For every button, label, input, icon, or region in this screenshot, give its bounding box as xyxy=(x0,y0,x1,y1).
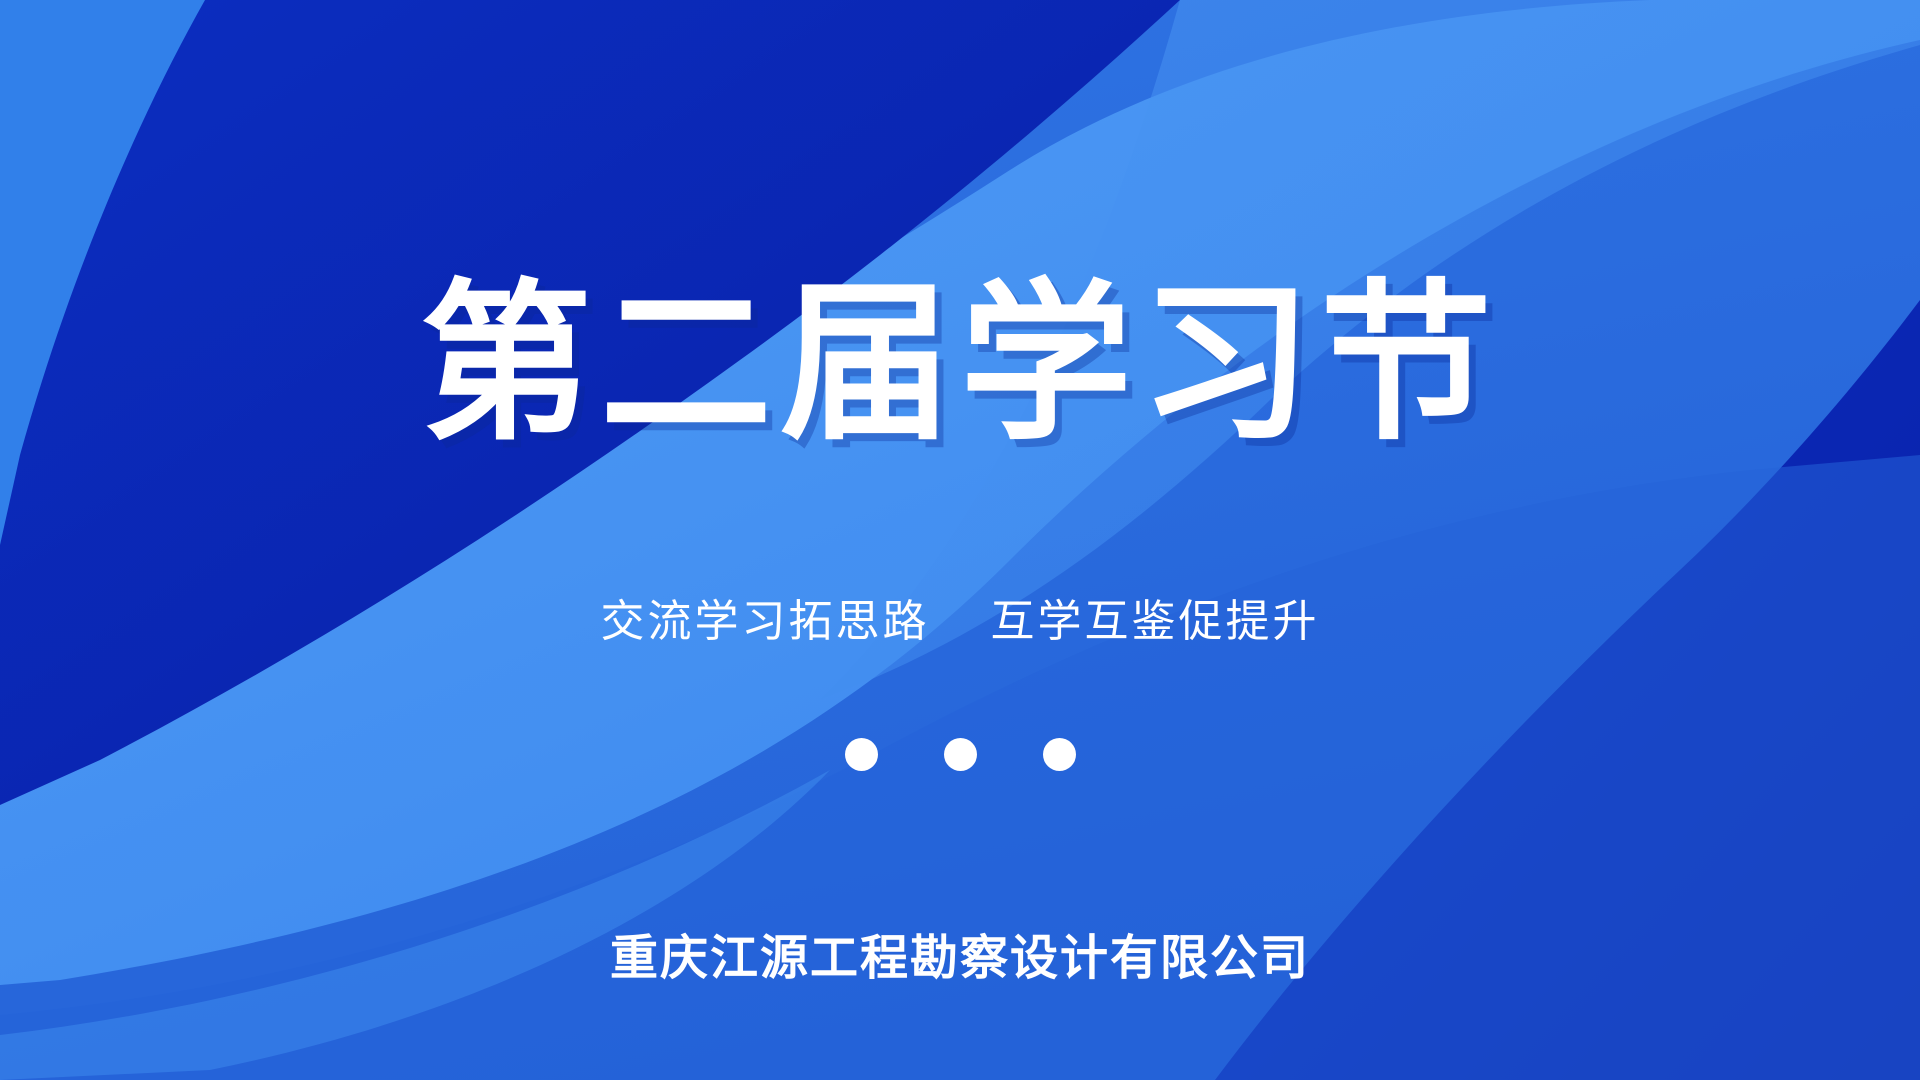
poster-subtitle: 交流学习拓思路 互学互鉴促提升 xyxy=(0,598,1920,646)
poster-content: 第二届学习节 交流学习拓思路 互学互鉴促提升 重庆江源工程勘察设计有限公司 xyxy=(0,0,1920,1080)
dot-icon-3 xyxy=(1043,738,1076,771)
company-name: 重庆江源工程勘察设计有限公司 xyxy=(0,918,1920,988)
dot-icon-2 xyxy=(944,738,977,771)
page-title: 第二届学习节 xyxy=(0,278,1920,450)
poster-canvas: 第二届学习节 交流学习拓思路 互学互鉴促提升 重庆江源工程勘察设计有限公司 xyxy=(0,0,1920,1080)
dot-icon-1 xyxy=(845,738,878,771)
decorative-dots xyxy=(0,738,1920,771)
